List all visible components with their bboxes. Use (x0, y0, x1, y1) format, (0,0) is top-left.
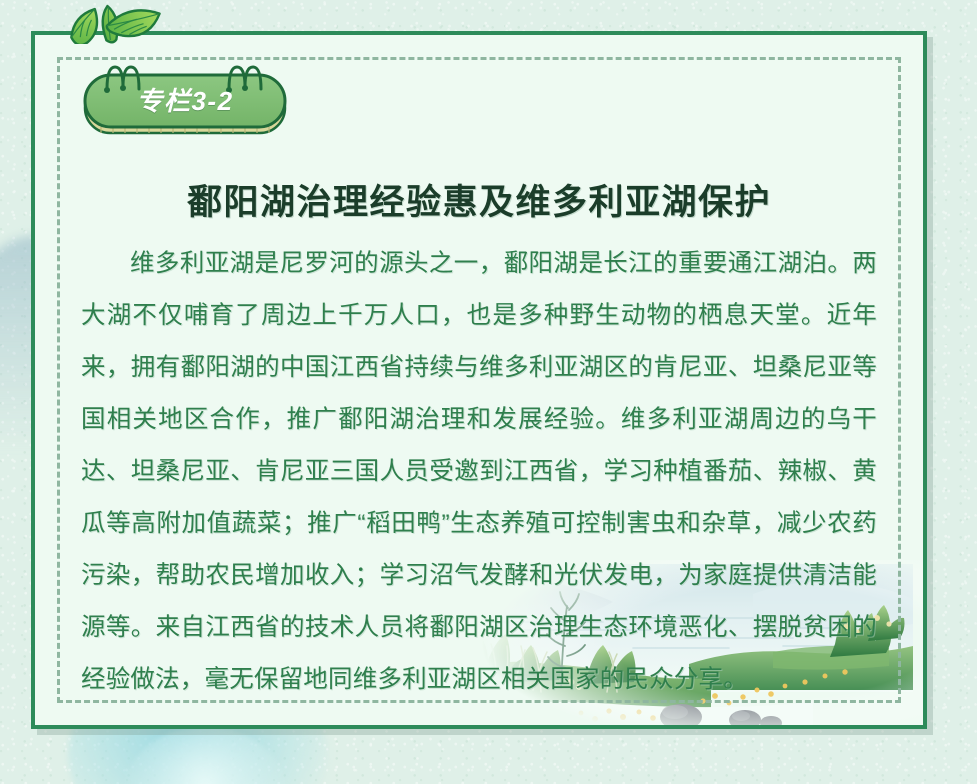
badge-label: 专栏3-2 (79, 75, 291, 127)
body-paragraph: 维多利亚湖是尼罗河的源头之一，鄱阳湖是长江的重要通江湖泊。两大湖不仅哺育了周边上… (81, 238, 877, 706)
content-panel: 专栏3-2 鄱阳湖治理经验惠及维多利亚湖保护 维多利亚湖是尼罗河的源头之一，鄱阳… (31, 31, 927, 729)
section-badge: 专栏3-2 (79, 61, 291, 137)
infographic-poster: 专栏3-2 鄱阳湖治理经验惠及维多利亚湖保护 维多利亚湖是尼罗河的源头之一，鄱阳… (0, 0, 977, 784)
water-blob-highlight (120, 726, 290, 784)
leaf-sprig-icon (55, 0, 167, 44)
page-title: 鄱阳湖治理经验惠及维多利亚湖保护 (35, 174, 923, 225)
